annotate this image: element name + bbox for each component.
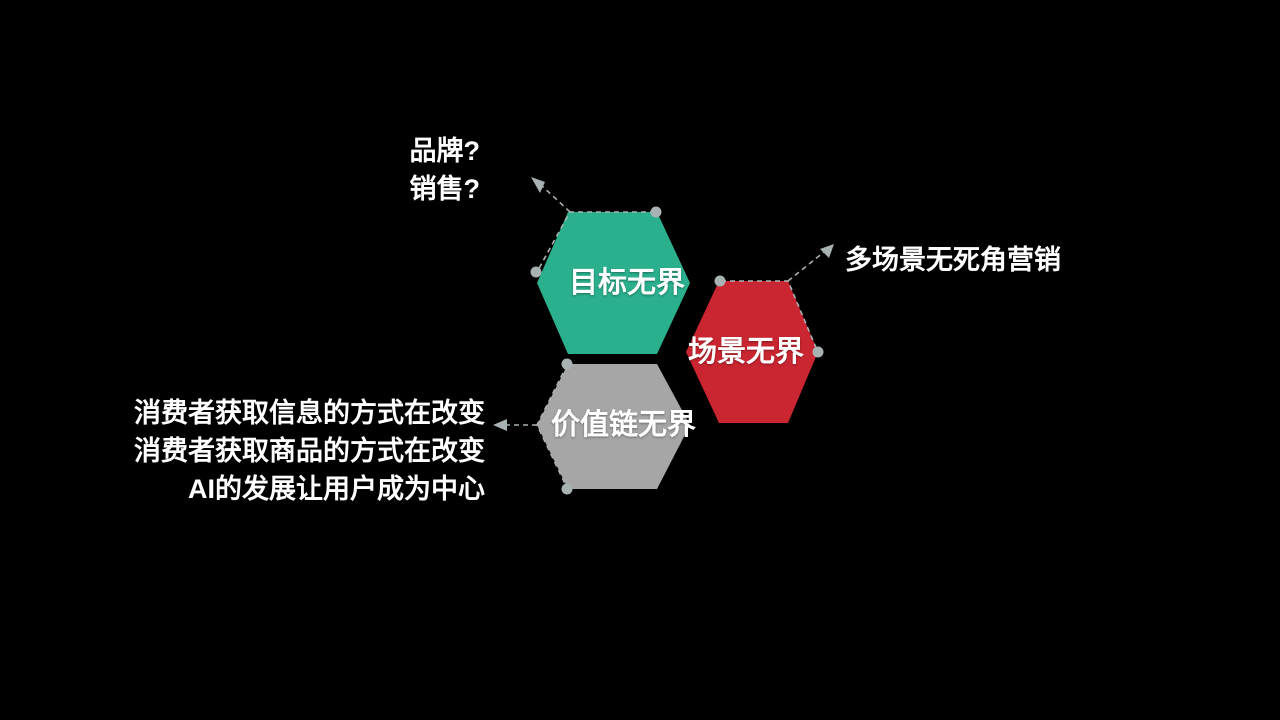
hexagon-label-target-boundless: 目标无界 xyxy=(569,269,685,298)
connector-dot xyxy=(562,484,573,495)
callout-brand-sales: 品牌? 销售? xyxy=(200,132,480,208)
slide-canvas: 目标无界 场景无界 价值链无界 品牌? 销售? 多场景无死角营销 消费者获取信息… xyxy=(0,0,1280,720)
connector-dot xyxy=(651,207,662,218)
connector-dot xyxy=(562,359,573,370)
arrowhead-icon xyxy=(820,244,834,258)
connector-dot xyxy=(813,347,824,358)
callout-line: 销售? xyxy=(200,170,480,208)
callout-multi-scene-marketing: 多场景无死角营销 xyxy=(845,241,1061,279)
callout-line: 消费者获取信息的方式在改变 xyxy=(85,394,485,432)
callout-line: 消费者获取商品的方式在改变 xyxy=(85,432,485,470)
callout-consumer-change: 消费者获取信息的方式在改变 消费者获取商品的方式在改变 AI的发展让用户成为中心 xyxy=(85,394,485,508)
arrowhead-icon xyxy=(493,419,507,431)
callout-line: 品牌? xyxy=(200,132,480,170)
callout-line: 多场景无死角营销 xyxy=(845,241,1061,279)
hexagon-diagram xyxy=(0,0,1280,720)
arrowhead-icon xyxy=(531,177,545,193)
callout-line: AI的发展让用户成为中心 xyxy=(85,470,485,508)
hexagon-label-value-chain-boundless: 价值链无界 xyxy=(551,411,696,440)
connector-dot xyxy=(531,267,542,278)
connector-dot xyxy=(715,276,726,287)
hexagon-label-scene-boundless: 场景无界 xyxy=(688,338,804,367)
